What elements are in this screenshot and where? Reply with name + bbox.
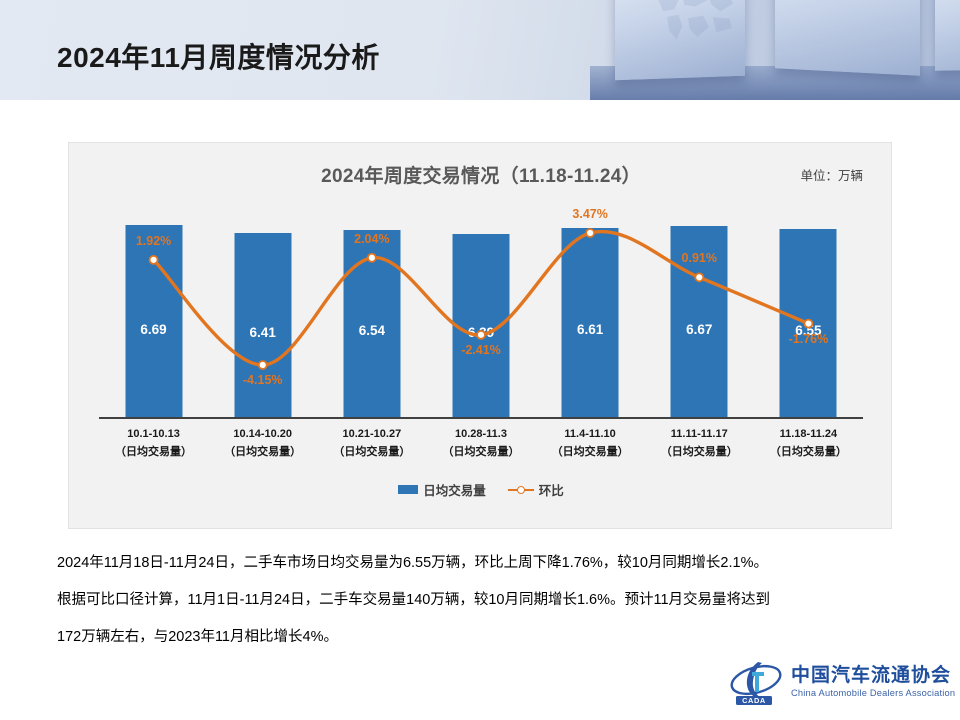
category-sub-text: （日均交易量） [754, 443, 863, 461]
chart-ratio-label: 2.04% [354, 232, 389, 246]
decorative-cube-3 [935, 0, 960, 71]
legend-item-line: 环比 [508, 480, 564, 499]
chart-bar-slot: 6.39 [426, 205, 535, 417]
x-axis-category-label: 10.14-10.20（日均交易量） [208, 425, 317, 461]
chart-bar-value-label: 6.61 [577, 322, 603, 337]
x-axis-category-label: 10.21-10.27（日均交易量） [317, 425, 426, 461]
x-axis-category-label: 11.11-11.17（日均交易量） [645, 425, 754, 461]
category-main-text: 11.4-11.10 [564, 428, 615, 440]
header-decoration-image [590, 0, 960, 100]
category-main-text: 11.11-11.17 [671, 428, 728, 440]
chart-unit-label: 单位：万辆 [800, 165, 863, 184]
page-title: 2024年11月周度情况分析 [57, 36, 380, 76]
chart-bar-value-label: 6.39 [468, 325, 494, 340]
chart-plot-area: 6.696.416.546.396.616.676.55 1.92%-4.15%… [99, 205, 863, 417]
chart-bar-value-label: 6.67 [686, 322, 712, 337]
x-axis-line [99, 417, 863, 419]
chart-ratio-label: 1.92% [136, 234, 171, 248]
chart-ratio-label: -2.41% [461, 343, 501, 357]
legend-bar-swatch-icon [398, 485, 418, 494]
chart-bar-value-label: 6.54 [359, 323, 385, 338]
chart-bar-slot: 6.61 [536, 205, 645, 417]
category-main-text: 11.18-11.24 [780, 428, 838, 440]
chart-bar-slot: 6.55 [754, 205, 863, 417]
chart-ratio-label: 0.91% [682, 251, 717, 265]
body-paragraph-1: 2024年11月18日-11月24日，二手车市场日均交易量为6.55万辆，环比上… [57, 545, 917, 582]
category-sub-text: （日均交易量） [317, 443, 426, 461]
body-paragraph-2: 根据可比口径计算，11月1日-11月24日，二手车交易量140万辆，较10月同期… [57, 582, 917, 619]
logo-text-block: 中国汽车流通协会 China Automobile Dealers Associ… [791, 665, 955, 700]
chart-title: 2024年周度交易情况（11.18-11.24） [69, 161, 893, 188]
chart-panel: 2024年周度交易情况（11.18-11.24） 单位：万辆 6.696.416… [68, 142, 892, 529]
decorative-cube-2 [775, 0, 920, 76]
chart-bar-value-label: 6.69 [140, 322, 166, 337]
x-axis-category-label: 11.4-11.10（日均交易量） [536, 425, 645, 461]
category-main-text: 10.14-10.20 [233, 428, 292, 440]
category-main-text: 10.28-11.3 [455, 428, 507, 440]
chart-legend: 日均交易量 环比 [69, 480, 893, 499]
legend-line-label: 环比 [539, 480, 564, 499]
category-main-text: 10.1-10.13 [127, 428, 180, 440]
legend-line-swatch-icon [508, 485, 534, 495]
x-axis-category-label: 11.18-11.24（日均交易量） [754, 425, 863, 461]
cada-emblem-icon: CADA [728, 658, 784, 706]
legend-bar-label: 日均交易量 [423, 480, 486, 499]
legend-item-bar: 日均交易量 [398, 480, 486, 499]
body-paragraph-3: 172万辆左右，与2023年11月相比增长4%。 [57, 619, 917, 656]
analysis-body-text: 2024年11月18日-11月24日，二手车市场日均交易量为6.55万辆，环比上… [57, 545, 917, 656]
world-map-icon [650, 0, 745, 49]
chart-ratio-label: 3.47% [572, 207, 607, 221]
header-band: 2024年11月周度情况分析 [0, 0, 960, 100]
decorative-cube-1 [615, 0, 745, 80]
x-axis-category-label: 10.1-10.13（日均交易量） [99, 425, 208, 461]
organization-logo: CADA 中国汽车流通协会 China Automobile Dealers A… [728, 656, 938, 708]
chart-ratio-label: -4.15% [243, 373, 283, 387]
category-sub-text: （日均交易量） [645, 443, 754, 461]
category-sub-text: （日均交易量） [426, 443, 535, 461]
category-sub-text: （日均交易量） [99, 443, 208, 461]
category-sub-text: （日均交易量） [536, 443, 645, 461]
x-axis-category-label: 10.28-11.3（日均交易量） [426, 425, 535, 461]
logo-name-en: China Automobile Dealers Association [791, 687, 955, 700]
svg-text:CADA: CADA [742, 696, 766, 705]
x-axis-category-labels: 10.1-10.13（日均交易量）10.14-10.20（日均交易量）10.21… [99, 425, 863, 471]
chart-bar-slot: 6.67 [645, 205, 754, 417]
chart-bar-value-label: 6.41 [250, 325, 276, 340]
category-main-text: 10.21-10.27 [342, 428, 401, 440]
category-sub-text: （日均交易量） [208, 443, 317, 461]
logo-name-cn: 中国汽车流通协会 [791, 665, 955, 687]
chart-ratio-label: -1.76% [789, 332, 829, 346]
